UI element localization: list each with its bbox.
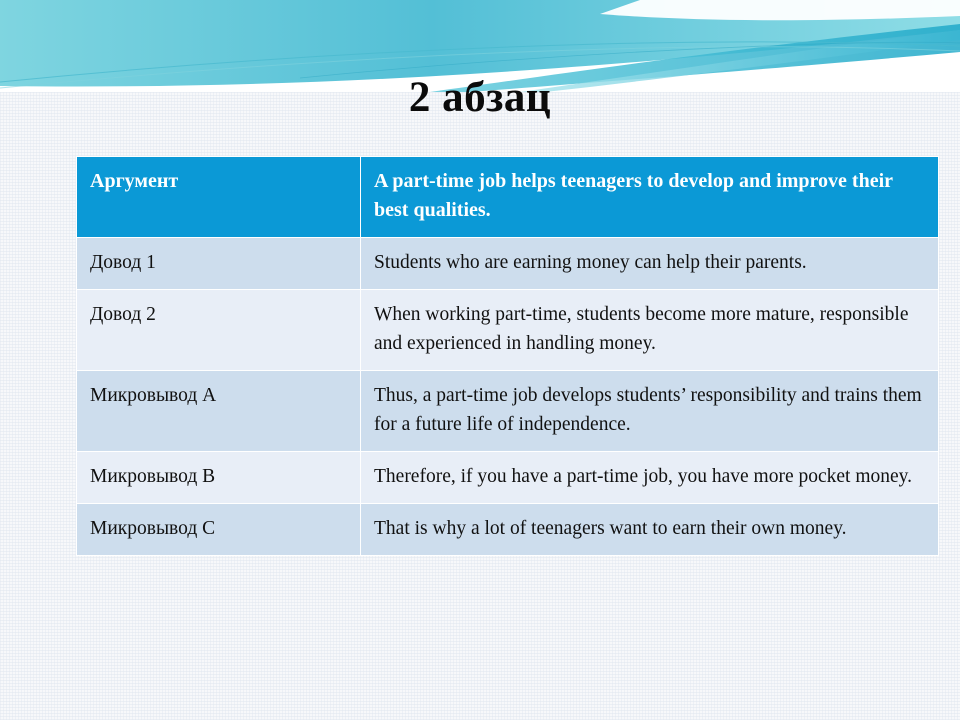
row-value-text: When working part-time, students become … bbox=[374, 300, 925, 358]
table-row: Микровывод В Therefore, if you have a pa… bbox=[77, 452, 939, 504]
row-label-text: Довод 1 bbox=[90, 248, 347, 277]
row-label-text: Микровывод В bbox=[90, 462, 347, 491]
row-label-cell: Микровывод В bbox=[77, 452, 361, 504]
row-label-text: Довод 2 bbox=[90, 300, 347, 329]
row-label-cell: Микровывод А bbox=[77, 371, 361, 452]
row-value-cell: Thus, a part-time job develops students’… bbox=[361, 371, 939, 452]
table-row: Довод 2 When working part-time, students… bbox=[77, 290, 939, 371]
row-value-cell: Therefore, if you have a part-time job, … bbox=[361, 452, 939, 504]
argument-table: Аргумент A part-time job helps teenagers… bbox=[76, 156, 939, 556]
row-label-text: Микровывод А bbox=[90, 381, 347, 410]
row-label-text: Микровывод С bbox=[90, 514, 347, 543]
row-label-cell: Довод 2 bbox=[77, 290, 361, 371]
row-value-text: That is why a lot of teenagers want to e… bbox=[374, 514, 925, 543]
row-value-text: Students who are earning money can help … bbox=[374, 248, 925, 277]
row-value-text: Thus, a part-time job develops students’… bbox=[374, 381, 925, 439]
row-label-cell: Довод 1 bbox=[77, 238, 361, 290]
table-row: Микровывод А Thus, a part-time job devel… bbox=[77, 371, 939, 452]
row-value-cell: When working part-time, students become … bbox=[361, 290, 939, 371]
row-value-text: A part-time job helps teenagers to devel… bbox=[374, 167, 925, 225]
row-value-cell: Students who are earning money can help … bbox=[361, 238, 939, 290]
table-row: Аргумент A part-time job helps teenagers… bbox=[77, 157, 939, 238]
slide-canvas: 2 абзац Аргумент A part-time job helps t… bbox=[0, 0, 960, 720]
row-value-text: Therefore, if you have a part-time job, … bbox=[374, 462, 925, 491]
table-row: Довод 1 Students who are earning money c… bbox=[77, 238, 939, 290]
page-title: 2 абзац bbox=[0, 72, 960, 124]
row-value-cell: That is why a lot of teenagers want to e… bbox=[361, 504, 939, 556]
row-label-cell: Микровывод С bbox=[77, 504, 361, 556]
row-value-cell: A part-time job helps teenagers to devel… bbox=[361, 157, 939, 238]
row-label-text: Аргумент bbox=[90, 167, 347, 196]
table-row: Микровывод С That is why a lot of teenag… bbox=[77, 504, 939, 556]
row-label-cell: Аргумент bbox=[77, 157, 361, 238]
